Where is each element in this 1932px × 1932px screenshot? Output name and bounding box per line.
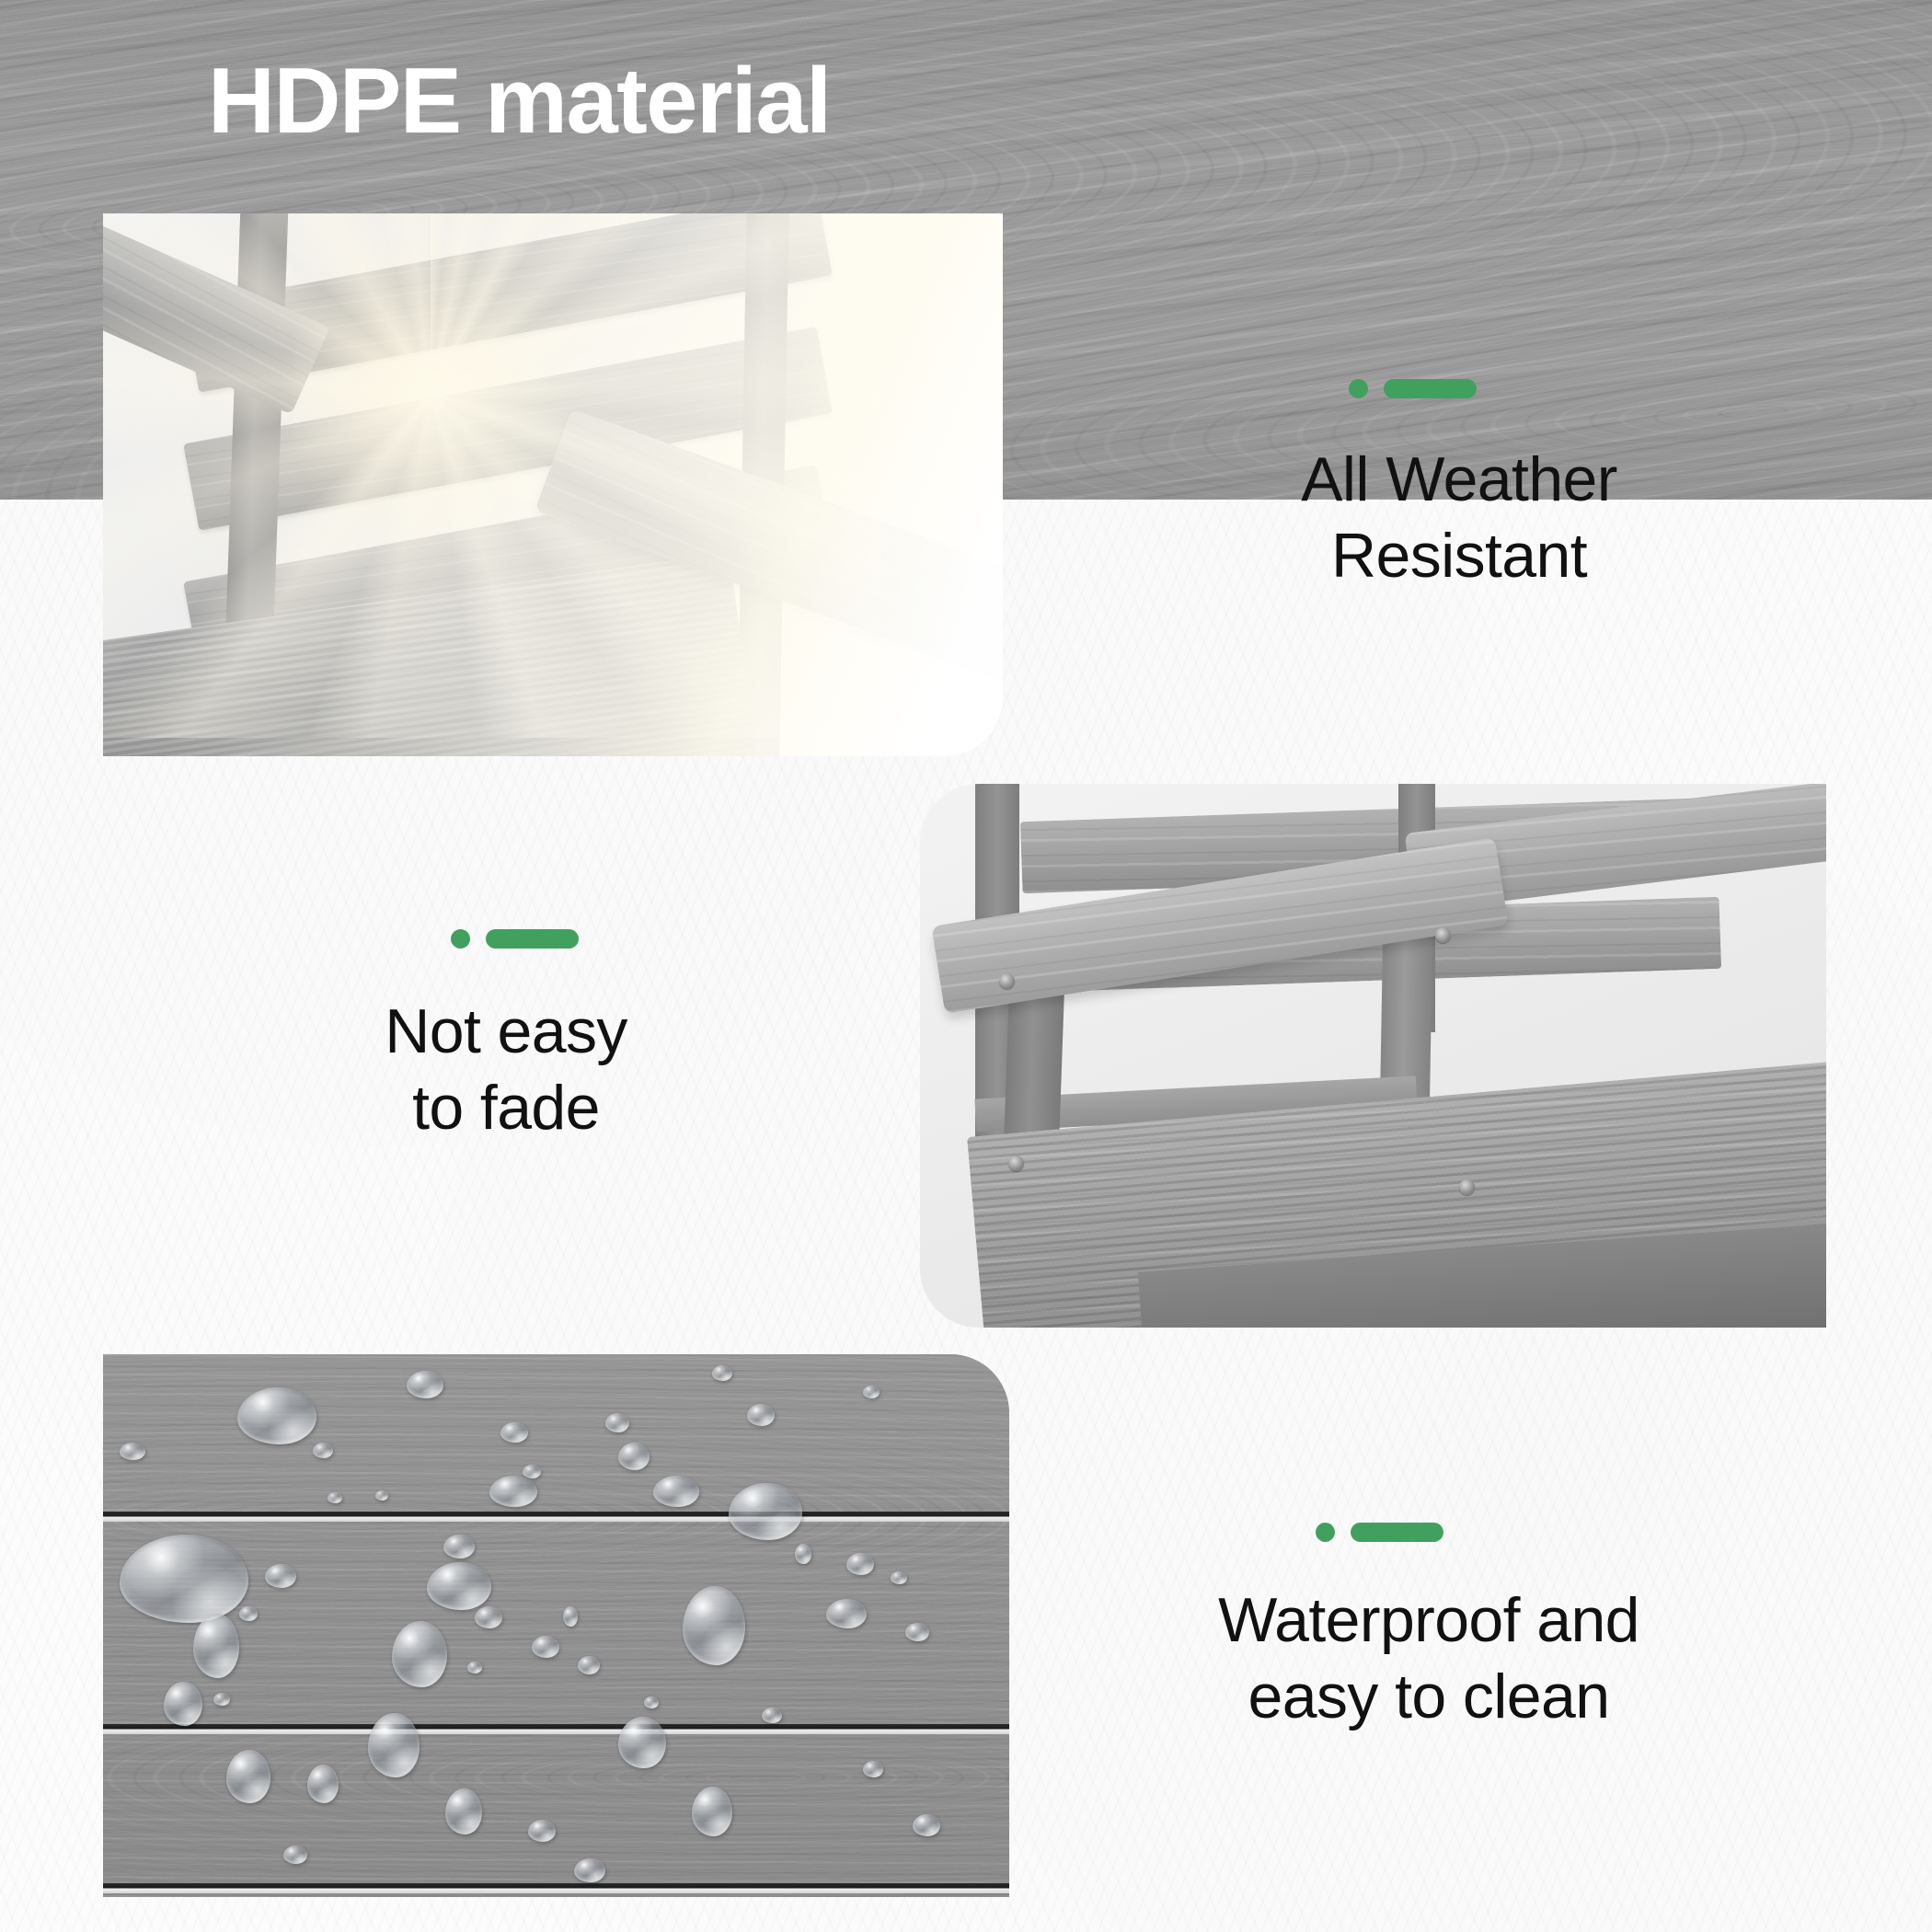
feature-caption-all-weather: All Weather Resistant xyxy=(1091,442,1827,594)
water-droplet xyxy=(307,1765,339,1803)
water-droplet xyxy=(863,1386,880,1398)
deck-board-seam xyxy=(103,1724,1009,1734)
water-droplet xyxy=(239,1606,258,1621)
water-droplet xyxy=(747,1404,775,1426)
deck-board-seam xyxy=(103,1883,1009,1893)
water-droplet xyxy=(368,1713,420,1777)
water-droplet xyxy=(392,1621,447,1687)
water-droplet xyxy=(445,1788,482,1834)
feature-caption-line-1: Not easy xyxy=(129,994,883,1070)
accent-dot-icon xyxy=(451,929,470,949)
water-droplet xyxy=(795,1544,811,1564)
water-droplet xyxy=(313,1443,333,1458)
water-droplet xyxy=(528,1820,556,1842)
water-droplet xyxy=(213,1693,230,1706)
accent-marker-not-fade xyxy=(451,929,579,949)
water-droplet xyxy=(578,1656,600,1674)
water-droplet xyxy=(164,1682,202,1726)
screw-icon xyxy=(1459,1179,1475,1195)
screw-icon xyxy=(1435,927,1451,943)
accent-marker-waterproof xyxy=(1316,1523,1443,1542)
water-droplet xyxy=(574,1858,605,1882)
water-droplet xyxy=(913,1814,940,1836)
screw-icon xyxy=(999,973,1015,989)
accent-dot-icon xyxy=(1349,379,1368,398)
water-droplet xyxy=(563,1606,578,1627)
water-droplet xyxy=(283,1846,307,1864)
water-droplet xyxy=(644,1696,659,1708)
water-droplet xyxy=(891,1571,907,1584)
accent-marker-all-weather xyxy=(1349,379,1477,398)
water-droplet xyxy=(467,1662,482,1673)
water-droplet xyxy=(905,1623,929,1641)
water-droplet xyxy=(443,1535,475,1558)
water-droplet xyxy=(523,1465,541,1478)
water-droplet xyxy=(826,1599,867,1628)
feature-image-not-fade xyxy=(920,784,1826,1328)
page-title: HDPE material xyxy=(208,52,831,152)
screw-icon xyxy=(1008,1156,1024,1171)
water-droplet xyxy=(120,1443,145,1460)
water-droplet xyxy=(328,1492,342,1503)
water-droplet xyxy=(683,1586,745,1665)
feature-image-all-weather xyxy=(103,213,1003,756)
feature-caption-line-1: All Weather xyxy=(1091,442,1827,518)
accent-bar-icon xyxy=(1351,1523,1443,1542)
water-droplet xyxy=(226,1750,270,1803)
water-droplet xyxy=(863,1761,883,1777)
accent-bar-icon xyxy=(486,929,579,949)
water-droplet xyxy=(237,1387,316,1444)
water-droplet xyxy=(712,1365,732,1381)
water-droplet xyxy=(692,1787,732,1836)
water-droplet xyxy=(618,1717,666,1768)
water-droplet xyxy=(193,1614,239,1678)
deck-board-seam xyxy=(103,1512,1009,1522)
water-droplet xyxy=(532,1636,559,1658)
feature-caption-line-2: to fade xyxy=(129,1070,883,1146)
water-droplet xyxy=(375,1490,388,1501)
water-droplet xyxy=(653,1476,699,1507)
accent-dot-icon xyxy=(1316,1523,1335,1542)
accent-bar-icon xyxy=(1384,379,1477,398)
feature-caption-waterproof: Waterproof and easy to clean xyxy=(1030,1582,1827,1735)
water-droplet xyxy=(265,1564,296,1588)
water-droplet xyxy=(120,1535,248,1623)
feature-caption-line-2: easy to clean xyxy=(1030,1659,1827,1735)
water-droplet xyxy=(605,1413,629,1432)
feature-caption-line-1: Waterproof and xyxy=(1030,1582,1827,1659)
feature-image-waterproof xyxy=(103,1354,1009,1897)
product-feature-poster: HDPE material xyxy=(0,0,1932,1932)
water-droplet xyxy=(407,1371,443,1398)
feature-caption-line-2: Resistant xyxy=(1091,518,1827,594)
water-droplet xyxy=(729,1483,802,1540)
water-droplet xyxy=(427,1562,491,1610)
water-droplet xyxy=(475,1606,502,1628)
water-droplet xyxy=(846,1553,874,1575)
deck-board-texture xyxy=(103,1354,1009,1897)
water-droplet xyxy=(500,1422,528,1443)
water-droplet xyxy=(762,1708,782,1723)
water-droplet xyxy=(489,1476,537,1507)
feature-caption-not-fade: Not easy to fade xyxy=(129,994,883,1146)
water-droplet xyxy=(618,1443,650,1470)
